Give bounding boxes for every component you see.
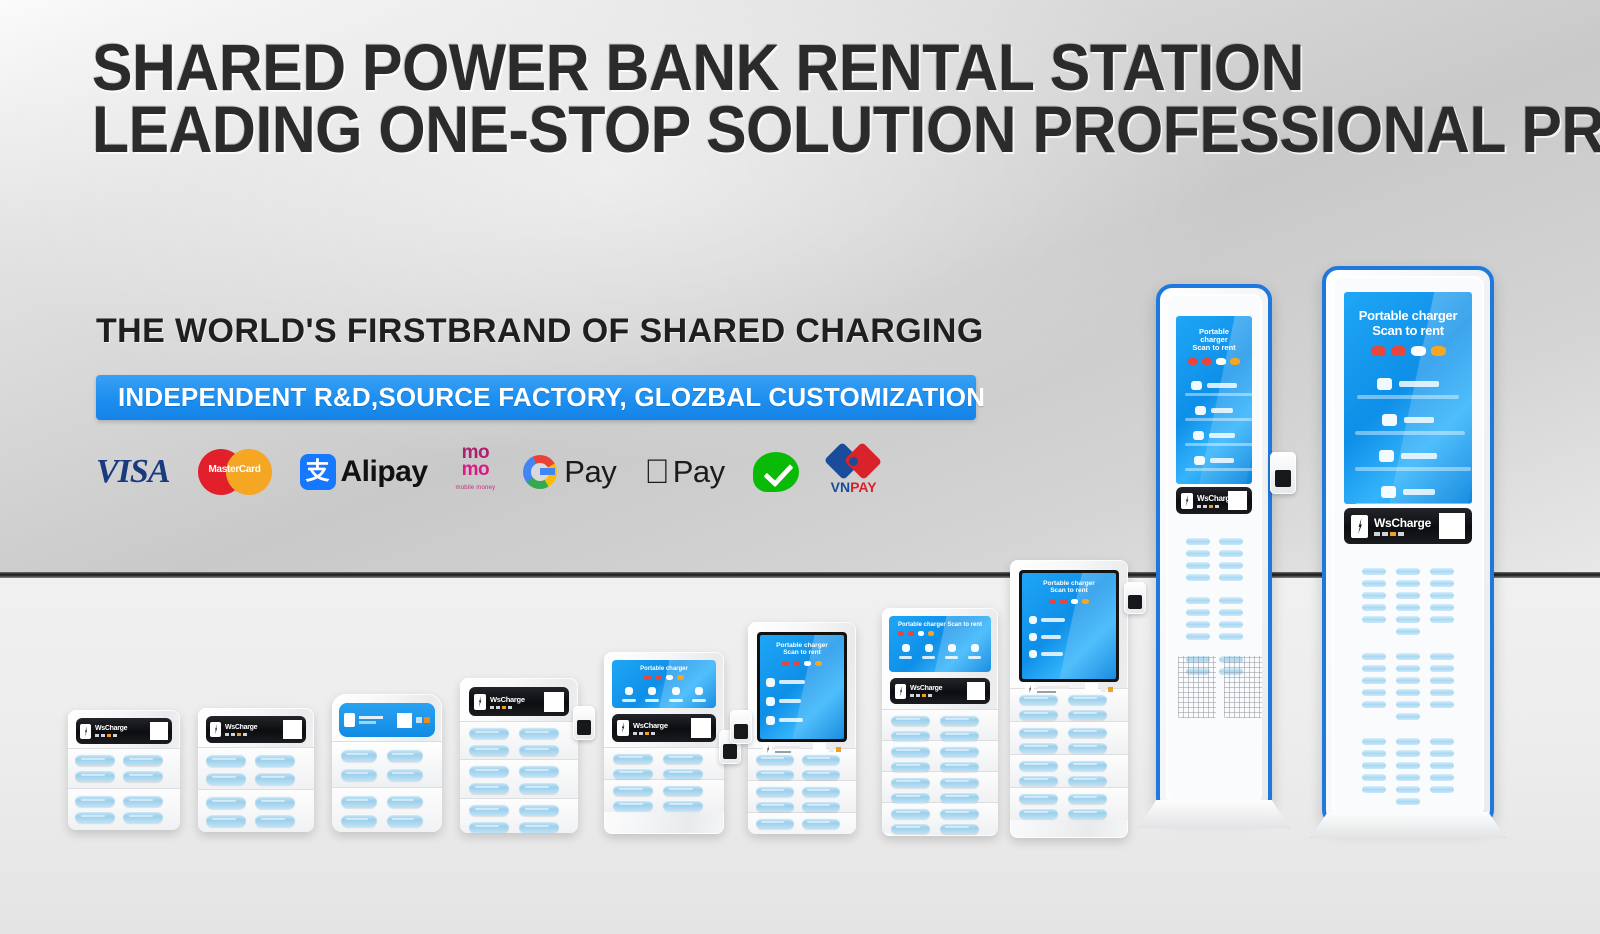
power-bank-slot[interactable] xyxy=(940,715,979,726)
slot-group xyxy=(198,789,314,832)
power-bank-slot[interactable] xyxy=(1396,665,1420,672)
power-bank-slot[interactable] xyxy=(613,785,653,796)
power-bank-slot[interactable] xyxy=(75,795,115,807)
power-bank-slot[interactable] xyxy=(940,777,979,788)
power-bank-slot[interactable] xyxy=(1430,653,1454,660)
power-bank-slot[interactable] xyxy=(1186,574,1210,581)
power-bank-slot[interactable] xyxy=(802,786,840,797)
brand-block: WsCharge xyxy=(95,725,150,737)
power-bank-slot[interactable] xyxy=(940,808,979,819)
power-bank-slot[interactable] xyxy=(1362,604,1386,611)
brand-block: WsCharge xyxy=(910,685,967,697)
power-bank-slot[interactable] xyxy=(940,730,979,741)
power-bank-slot[interactable] xyxy=(1396,786,1420,793)
power-bank-slot[interactable] xyxy=(1430,604,1454,611)
power-bank-slot[interactable] xyxy=(123,754,163,766)
screen-feature-list xyxy=(1185,381,1243,471)
qr-code-icon xyxy=(397,713,412,728)
power-bank-slot[interactable] xyxy=(1068,694,1107,705)
power-bank-slot[interactable] xyxy=(1396,701,1420,708)
power-bank-slot[interactable] xyxy=(1430,568,1454,575)
power-bank-slot[interactable] xyxy=(1019,775,1058,786)
power-bank-slot[interactable] xyxy=(613,753,653,764)
power-bank-slot[interactable] xyxy=(1362,701,1386,708)
card-reader-accessory[interactable] xyxy=(1270,452,1296,494)
power-bank-slot[interactable] xyxy=(1430,677,1454,684)
power-bank-slot[interactable] xyxy=(341,795,377,808)
power-bank-slot[interactable] xyxy=(1396,774,1420,781)
power-bank-slot[interactable] xyxy=(1362,665,1386,672)
power-bank-slot[interactable] xyxy=(940,792,979,803)
product-12-slot-station-with-reader[interactable]: WsCharge xyxy=(460,678,578,833)
brand-bar: WsCharge xyxy=(1344,508,1472,544)
power-bank-slot[interactable] xyxy=(756,833,794,834)
power-bank-slot[interactable] xyxy=(940,823,979,834)
power-bank-slot[interactable] xyxy=(891,746,930,757)
power-bank-slot[interactable] xyxy=(891,761,930,772)
power-bank-slot[interactable] xyxy=(1362,786,1386,793)
power-bank-slot[interactable] xyxy=(1396,628,1420,635)
power-bank-slot[interactable] xyxy=(1362,774,1386,781)
screen-feature-row xyxy=(766,697,838,706)
power-bank-slot[interactable] xyxy=(1219,633,1243,640)
slot-group xyxy=(460,759,578,798)
power-bank-slot[interactable] xyxy=(891,715,930,726)
card-reader-accessory[interactable] xyxy=(573,706,595,740)
kiosk-base xyxy=(1310,812,1506,838)
slot-group xyxy=(748,780,856,812)
qr-code-icon xyxy=(967,682,985,700)
power-bank-slot[interactable] xyxy=(756,786,794,797)
power-bank-slot[interactable] xyxy=(1362,592,1386,599)
screen-feature-labels xyxy=(617,699,711,702)
vent-grille-icon xyxy=(1224,656,1262,718)
power-bank-slot[interactable] xyxy=(1362,653,1386,660)
battery-bolt-icon xyxy=(1181,493,1193,509)
vent-grille-icon xyxy=(1178,656,1216,718)
ventilation-panels xyxy=(1178,656,1262,718)
slot-group xyxy=(68,748,180,788)
power-bank-slot[interactable] xyxy=(469,804,509,816)
power-bank-slot[interactable] xyxy=(1019,742,1058,753)
power-bank-slot[interactable] xyxy=(1430,580,1454,587)
power-bank-slot[interactable] xyxy=(1186,538,1210,545)
power-bank-slot[interactable] xyxy=(255,754,295,767)
power-bank-slot[interactable] xyxy=(469,821,509,833)
power-bank-slot[interactable] xyxy=(206,772,246,785)
power-bank-slot[interactable] xyxy=(255,796,295,809)
power-bank-slot[interactable] xyxy=(1219,574,1243,581)
slot-grid xyxy=(1350,653,1466,720)
power-bank-slot[interactable] xyxy=(1430,774,1454,781)
slot-group xyxy=(332,741,442,787)
product-8-slot-desktop-station[interactable]: WsCharge xyxy=(198,708,314,832)
slot-group xyxy=(882,771,998,802)
power-bank-slot[interactable] xyxy=(1068,775,1107,786)
slot-grid xyxy=(1182,597,1246,640)
battery-bolt-icon xyxy=(210,722,221,737)
power-bank-slot[interactable] xyxy=(1019,808,1058,819)
power-bank-slot[interactable] xyxy=(387,749,423,762)
slot-group xyxy=(68,788,180,830)
power-bank-slot[interactable] xyxy=(519,821,559,833)
screen-feature-icons xyxy=(894,644,986,652)
power-bank-slot[interactable] xyxy=(341,749,377,762)
product-wide-screen-24-slot-station[interactable]: Portable charger Scan to rent WsCharge xyxy=(882,608,998,836)
power-bank-slot[interactable] xyxy=(341,814,377,827)
lcd-screen[interactable]: Portable chargerScan to rent xyxy=(1022,573,1116,679)
lcd-screen[interactable]: Portable chargerScan to rent xyxy=(1176,316,1252,484)
product-4-slot-desktop-station[interactable]: WsCharge xyxy=(68,710,180,830)
power-bank-slot[interactable] xyxy=(1068,742,1107,753)
power-bank-slot[interactable] xyxy=(1430,616,1454,623)
power-bank-slot[interactable] xyxy=(75,811,115,823)
power-bank-slot[interactable] xyxy=(891,777,930,788)
power-bank-slot[interactable] xyxy=(469,744,509,756)
qr-code-icon xyxy=(1439,513,1465,539)
screen-payment-badges xyxy=(1355,346,1461,356)
slot-group xyxy=(460,798,578,833)
power-bank-slot[interactable] xyxy=(1019,793,1058,804)
slot-group xyxy=(1010,787,1128,820)
power-bank-slot[interactable] xyxy=(387,814,423,827)
product-portrait-screen-station[interactable]: Portable chargerScan to rent xyxy=(748,622,856,834)
power-bank-slot[interactable] xyxy=(891,792,930,803)
battery-bolt-icon xyxy=(895,684,906,699)
product-12-slot-station-with-lcd[interactable]: Portable charger WsCharge xyxy=(604,652,724,834)
power-bank-slot[interactable] xyxy=(1186,550,1210,557)
screen-payment-badges xyxy=(617,675,711,680)
power-bank-slot[interactable] xyxy=(1362,616,1386,623)
lcd-screen[interactable]: Portable charger xyxy=(612,660,716,708)
power-bank-slot[interactable] xyxy=(1068,760,1107,771)
power-bank-slot[interactable] xyxy=(802,818,840,829)
lcd-screen[interactable]: Portable charger Scan to rent xyxy=(889,616,991,672)
brand-bar: WsCharge xyxy=(1176,487,1252,514)
power-bank-slot[interactable] xyxy=(519,744,559,756)
screen-feature-row xyxy=(1029,616,1109,624)
power-bank-slot[interactable] xyxy=(1430,665,1454,672)
brand-bar: WsCharge xyxy=(890,678,990,704)
power-bank-slot[interactable] xyxy=(1396,762,1420,769)
power-bank-slot[interactable] xyxy=(891,808,930,819)
power-bank-slot[interactable] xyxy=(1019,694,1058,705)
power-bank-slot[interactable] xyxy=(663,753,703,764)
power-bank-slot[interactable] xyxy=(341,768,377,781)
screen-feature-list xyxy=(1355,378,1461,504)
power-bank-slot[interactable] xyxy=(756,754,794,765)
power-bank-slot[interactable] xyxy=(255,814,295,827)
power-bank-slot[interactable] xyxy=(1186,609,1210,616)
slot-grid xyxy=(1350,568,1466,635)
slot-group xyxy=(332,787,442,832)
power-bank-slot[interactable] xyxy=(1396,738,1420,745)
screen-bezel: Portable chargerScan to rent xyxy=(1019,570,1119,682)
brand-block: WsCharge xyxy=(633,721,691,735)
power-bank-slot[interactable] xyxy=(75,770,115,782)
slot-group xyxy=(1010,721,1128,754)
product-curved-8-slot-station[interactable] xyxy=(332,694,442,832)
battery-bolt-icon xyxy=(474,694,486,710)
power-bank-slot[interactable] xyxy=(1362,738,1386,745)
power-bank-slot[interactable] xyxy=(1362,677,1386,684)
screen-payment-badges xyxy=(1029,599,1109,604)
power-bank-slot[interactable] xyxy=(1186,597,1210,604)
slot-group xyxy=(1010,754,1128,787)
power-bank-slot[interactable] xyxy=(255,772,295,785)
brand-block: WsCharge xyxy=(1374,516,1439,536)
battery-icon xyxy=(344,713,355,727)
screen-title: Portable chargerScan to rent xyxy=(1355,308,1461,338)
screen-title: Portable chargerScan to rent xyxy=(1029,581,1109,595)
power-bank-slot[interactable] xyxy=(387,768,423,781)
power-bank-slot[interactable] xyxy=(519,765,559,777)
slot-group xyxy=(198,747,314,789)
battery-bolt-icon xyxy=(1351,515,1368,538)
power-bank-slot[interactable] xyxy=(1430,750,1454,757)
brand-bar: WsCharge xyxy=(612,714,716,742)
slot-group xyxy=(748,812,856,834)
power-bank-slot[interactable] xyxy=(802,754,840,765)
product-tall-32-slot-station[interactable]: Portable chargerScan to rent xyxy=(1010,560,1128,838)
power-bank-slot[interactable] xyxy=(1068,808,1107,819)
slot-group xyxy=(882,740,998,771)
power-bank-slot[interactable] xyxy=(1019,709,1058,720)
qr-code-icon xyxy=(150,722,168,740)
power-bank-slot[interactable] xyxy=(1186,562,1210,569)
power-bank-slot[interactable] xyxy=(613,768,653,779)
power-bank-slot[interactable] xyxy=(663,785,703,796)
slot-group xyxy=(882,709,998,740)
power-bank-slot[interactable] xyxy=(1396,713,1420,720)
power-bank-slot[interactable] xyxy=(1396,604,1420,611)
power-bank-slot[interactable] xyxy=(940,746,979,757)
power-bank-slot[interactable] xyxy=(940,761,979,772)
power-bank-slot[interactable] xyxy=(1068,709,1107,720)
power-bank-slot[interactable] xyxy=(387,795,423,808)
power-bank-slot[interactable] xyxy=(1362,568,1386,575)
power-bank-slot[interactable] xyxy=(802,833,840,834)
screen-bezel: Portable chargerScan to rent xyxy=(757,632,847,742)
qr-code-icon xyxy=(544,692,564,712)
power-bank-slot[interactable] xyxy=(1396,592,1420,599)
power-bank-slot[interactable] xyxy=(613,800,653,811)
screen-payment-badges xyxy=(766,661,838,666)
status-dots xyxy=(416,717,430,723)
screen-title: Portable chargerScan to rent xyxy=(1185,328,1243,352)
power-bank-slot[interactable] xyxy=(469,782,509,794)
brand-bar: WsCharge xyxy=(206,716,306,743)
kiosk-base xyxy=(1138,800,1290,828)
qr-code-icon xyxy=(1228,491,1247,510)
power-bank-slot[interactable] xyxy=(123,795,163,807)
power-bank-slot[interactable] xyxy=(1362,762,1386,769)
power-bank-slot[interactable] xyxy=(802,801,840,812)
screen-feature-row xyxy=(1029,633,1109,641)
screen-feature-labels xyxy=(894,656,986,659)
screen-feature-row xyxy=(766,716,838,725)
power-bank-slot[interactable] xyxy=(1186,621,1210,628)
screen-title: Portable chargerScan to rent xyxy=(766,643,838,657)
power-bank-slot[interactable] xyxy=(75,754,115,766)
power-bank-slot[interactable] xyxy=(1362,689,1386,696)
power-bank-slot[interactable] xyxy=(1068,793,1107,804)
screen-payment-badges xyxy=(894,631,986,636)
power-bank-slot[interactable] xyxy=(1396,798,1420,805)
qr-code-icon xyxy=(691,718,711,738)
power-bank-slot[interactable] xyxy=(1430,701,1454,708)
power-bank-slot[interactable] xyxy=(756,818,794,829)
power-bank-slot[interactable] xyxy=(1362,750,1386,757)
power-bank-slot[interactable] xyxy=(756,769,794,780)
battery-bolt-icon xyxy=(617,720,629,736)
power-bank-slot[interactable] xyxy=(1219,538,1243,545)
power-bank-slot[interactable] xyxy=(756,801,794,812)
slot-group xyxy=(882,802,998,833)
card-reader-accessory[interactable] xyxy=(730,710,752,744)
power-bank-slot[interactable] xyxy=(123,770,163,782)
power-bank-slot[interactable] xyxy=(1019,727,1058,738)
card-reader-accessory[interactable] xyxy=(1124,582,1146,614)
slot-group xyxy=(604,779,724,812)
slot-grid xyxy=(1350,738,1466,805)
screen-feature-row xyxy=(766,678,838,687)
slot-group xyxy=(604,747,724,779)
screen-payment-badges xyxy=(1185,358,1243,365)
screen-feature-icons xyxy=(617,687,711,695)
power-bank-slot[interactable] xyxy=(663,768,703,779)
power-bank-slot[interactable] xyxy=(1430,738,1454,745)
power-bank-slot[interactable] xyxy=(1430,689,1454,696)
power-bank-slot[interactable] xyxy=(1362,580,1386,587)
lcd-screen[interactable]: Portable chargerScan to rent xyxy=(1344,292,1472,504)
power-bank-slot[interactable] xyxy=(891,823,930,834)
brand-block: WsCharge xyxy=(225,724,283,736)
power-bank-slot[interactable] xyxy=(1396,653,1420,660)
power-bank-slot[interactable] xyxy=(1396,580,1420,587)
screen-title: Portable charger Scan to rent xyxy=(894,622,986,628)
power-bank-slot[interactable] xyxy=(519,782,559,794)
power-bank-slot[interactable] xyxy=(1068,727,1107,738)
blue-header-panel xyxy=(339,703,435,737)
slot-grid xyxy=(1182,538,1246,581)
power-bank-slot[interactable] xyxy=(1219,609,1243,616)
battery-bolt-icon xyxy=(80,724,91,739)
power-bank-slot[interactable] xyxy=(519,727,559,739)
mastercard-wordmark: MasterCard xyxy=(198,464,272,475)
power-bank-slot[interactable] xyxy=(206,814,246,827)
brand-bar: WsCharge xyxy=(469,687,569,716)
power-bank-slot[interactable] xyxy=(206,796,246,809)
power-bank-slot[interactable] xyxy=(1219,550,1243,557)
qr-code-icon xyxy=(283,720,302,739)
brand-block: WsCharge xyxy=(490,695,544,709)
power-bank-slot[interactable] xyxy=(1396,689,1420,696)
screen-feature-row xyxy=(1029,650,1109,658)
power-bank-slot[interactable] xyxy=(1186,633,1210,640)
power-bank-slot[interactable] xyxy=(663,800,703,811)
power-bank-slot[interactable] xyxy=(1219,597,1243,604)
power-bank-slot[interactable] xyxy=(1219,562,1243,569)
power-bank-slot[interactable] xyxy=(1019,760,1058,771)
power-bank-slot[interactable] xyxy=(469,727,509,739)
power-bank-slot[interactable] xyxy=(1219,621,1243,628)
power-bank-slot[interactable] xyxy=(802,769,840,780)
power-bank-slot[interactable] xyxy=(1396,677,1420,684)
power-bank-slot[interactable] xyxy=(1430,592,1454,599)
power-bank-slot[interactable] xyxy=(519,804,559,816)
power-bank-slot[interactable] xyxy=(891,730,930,741)
brand-bar: WsCharge xyxy=(76,718,172,744)
power-bank-slot[interactable] xyxy=(1396,616,1420,623)
brand-block: WsCharge xyxy=(1197,494,1228,508)
power-bank-slot[interactable] xyxy=(1396,750,1420,757)
header-text-block xyxy=(359,716,393,724)
slot-group xyxy=(460,721,578,759)
power-bank-slot[interactable] xyxy=(469,765,509,777)
power-bank-slot[interactable] xyxy=(123,811,163,823)
screen-title-line1: Portable charger xyxy=(617,666,711,672)
power-bank-slot[interactable] xyxy=(1396,568,1420,575)
power-bank-slot[interactable] xyxy=(1430,786,1454,793)
power-bank-slot[interactable] xyxy=(1430,762,1454,769)
power-bank-slot[interactable] xyxy=(206,754,246,767)
lcd-screen[interactable]: Portable chargerScan to rent xyxy=(760,635,844,739)
